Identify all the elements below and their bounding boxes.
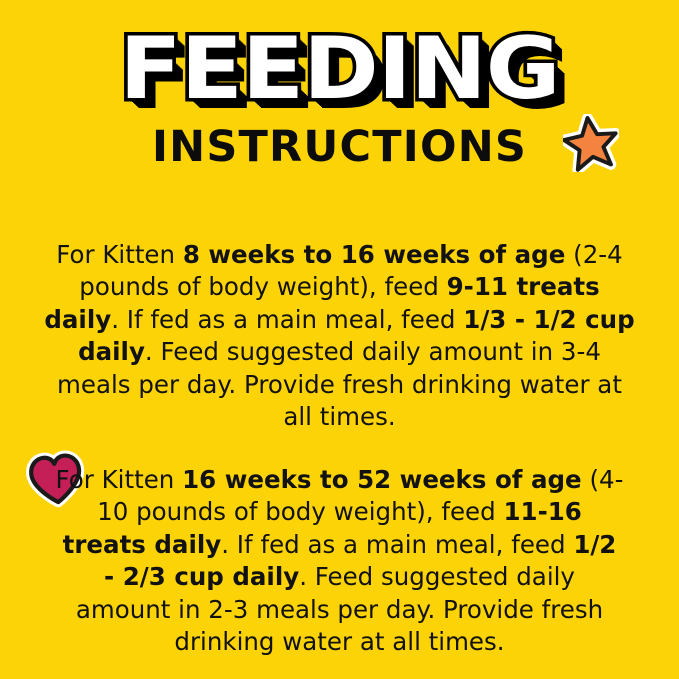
poster-header: FEEDING INSTRUCTIONS (0, 0, 679, 195)
page-subtitle: INSTRUCTIONS (0, 122, 679, 172)
feeding-paragraph-kitten-16-52-weeks: For Kitten 16 weeks to 52 weeks of age (… (0, 464, 679, 659)
page-title: FEEDING (0, 26, 679, 112)
feeding-paragraph-kitten-8-16-weeks: For Kitten 8 weeks to 16 weeks of age (2… (0, 239, 679, 434)
feeding-instructions-body: For Kitten 8 weeks to 16 weeks of age (2… (0, 214, 679, 679)
feeding-instructions-poster: FEEDING INSTRUCTIONS For Kitten 8 weeks … (0, 0, 679, 679)
